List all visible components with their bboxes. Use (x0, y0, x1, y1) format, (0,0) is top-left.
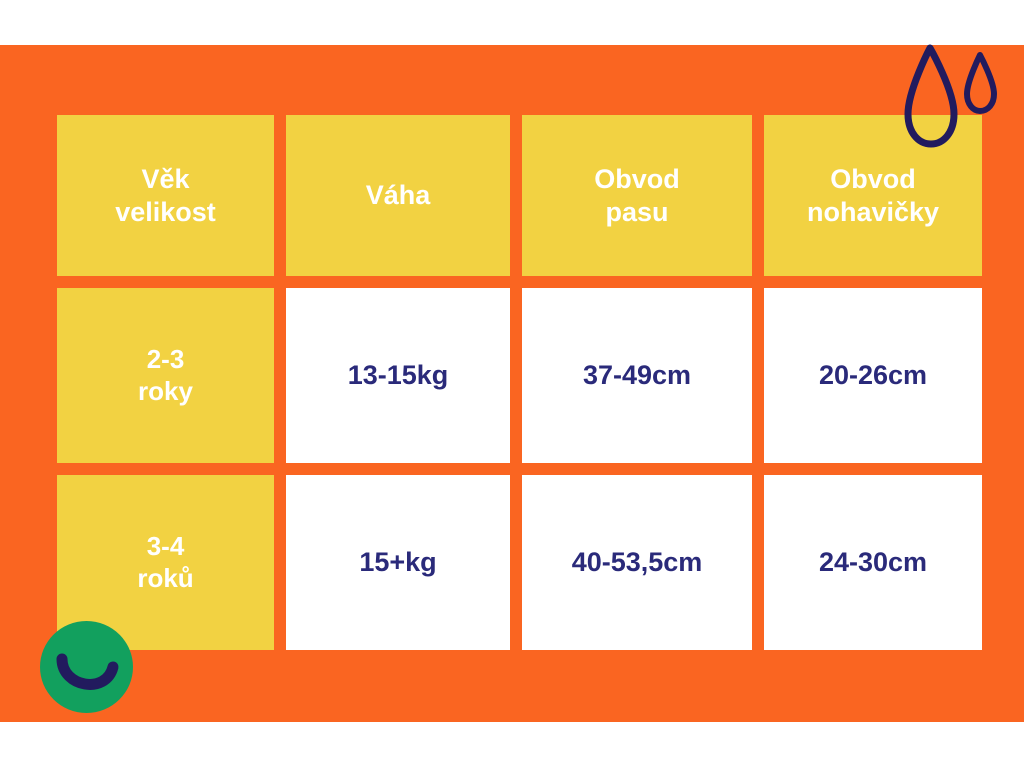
smiley-smile-arc (40, 621, 133, 713)
poster-canvas: Věk velikost Váha Obvod pasu Obvod nohav… (0, 0, 1024, 768)
cell-age-row1: 2-3 roky (57, 344, 274, 407)
table-row: 37-49cm (522, 288, 752, 463)
smiley-face-icon (40, 621, 133, 713)
table-header-leg-label: Obvod nohavičky (764, 163, 982, 229)
cell-weight-row2: 15+kg (286, 546, 510, 579)
table-header-weight-label: Váha (286, 179, 510, 212)
table-header-waist: Obvod pasu (522, 115, 752, 276)
cell-leg-row1: 20-26cm (764, 359, 982, 392)
table-header-leg: Obvod nohavičky (764, 115, 982, 276)
table-row: 2-3 roky (57, 288, 274, 463)
cell-waist-row2: 40-53,5cm (522, 546, 752, 579)
table-row: 20-26cm (764, 288, 982, 463)
cell-waist-row1: 37-49cm (522, 359, 752, 392)
table-header-age-size: Věk velikost (57, 115, 274, 276)
table-row: 40-53,5cm (522, 475, 752, 650)
cell-leg-row2: 24-30cm (764, 546, 982, 579)
table-row: 13-15kg (286, 288, 510, 463)
table-row: 15+kg (286, 475, 510, 650)
table-row: 24-30cm (764, 475, 982, 650)
size-chart-table: Věk velikost Váha Obvod pasu Obvod nohav… (57, 115, 958, 663)
table-header-age-size-label: Věk velikost (57, 163, 274, 229)
table-header-waist-label: Obvod pasu (522, 163, 752, 229)
table-header-weight: Váha (286, 115, 510, 276)
cell-age-row2: 3-4 roků (57, 531, 274, 594)
cell-weight-row1: 13-15kg (286, 359, 510, 392)
